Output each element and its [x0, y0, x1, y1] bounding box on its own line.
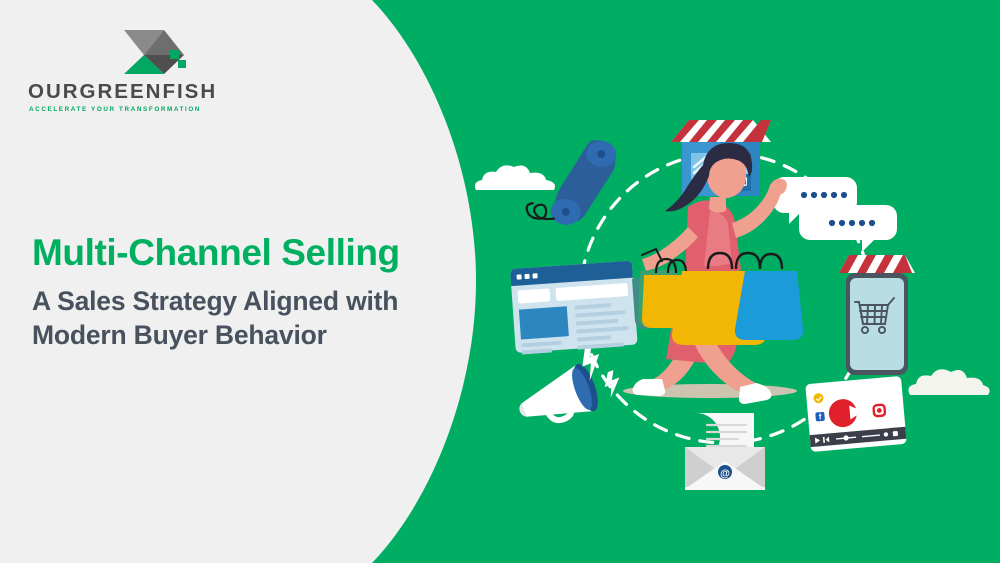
chat-bubbles-icon [773, 177, 897, 252]
svg-text:@: @ [720, 468, 730, 479]
video-player-icon: f [805, 376, 907, 452]
headline-secondary-line2: Modern Buyer Behavior [32, 318, 462, 352]
logo-tagline: ACCELERATE YOUR TRANSFORMATION [29, 107, 209, 113]
headline-block: Multi-Channel Selling A Sales Strategy A… [32, 232, 462, 353]
mobile-awning [839, 255, 915, 273]
logo-wordmark: OURGREENFISH [28, 82, 203, 103]
headline-secondary: A Sales Strategy Aligned with Modern Buy… [32, 284, 462, 353]
store-awning [671, 120, 771, 142]
headline-primary: Multi-Channel Selling [32, 232, 462, 275]
email-envelope-icon: @ [685, 413, 765, 490]
headline-secondary-line1: A Sales Strategy Aligned with [32, 284, 462, 318]
omnichannel-illustration: OPEN [460, 95, 1000, 515]
logo[interactable]: OURGREENFISH ACCELERATE YOUR TRANSFORMAT… [28, 22, 203, 112]
hero-banner: OURGREENFISH ACCELERATE YOUR TRANSFORMAT… [0, 0, 1000, 563]
web-browser-icon [510, 261, 638, 355]
mobile-commerce-icon [839, 255, 915, 375]
woman-walking-with-shopping-bags [632, 143, 803, 404]
ourgreenfish-arrow-mark-icon [120, 22, 192, 78]
telephone-icon [524, 122, 622, 237]
